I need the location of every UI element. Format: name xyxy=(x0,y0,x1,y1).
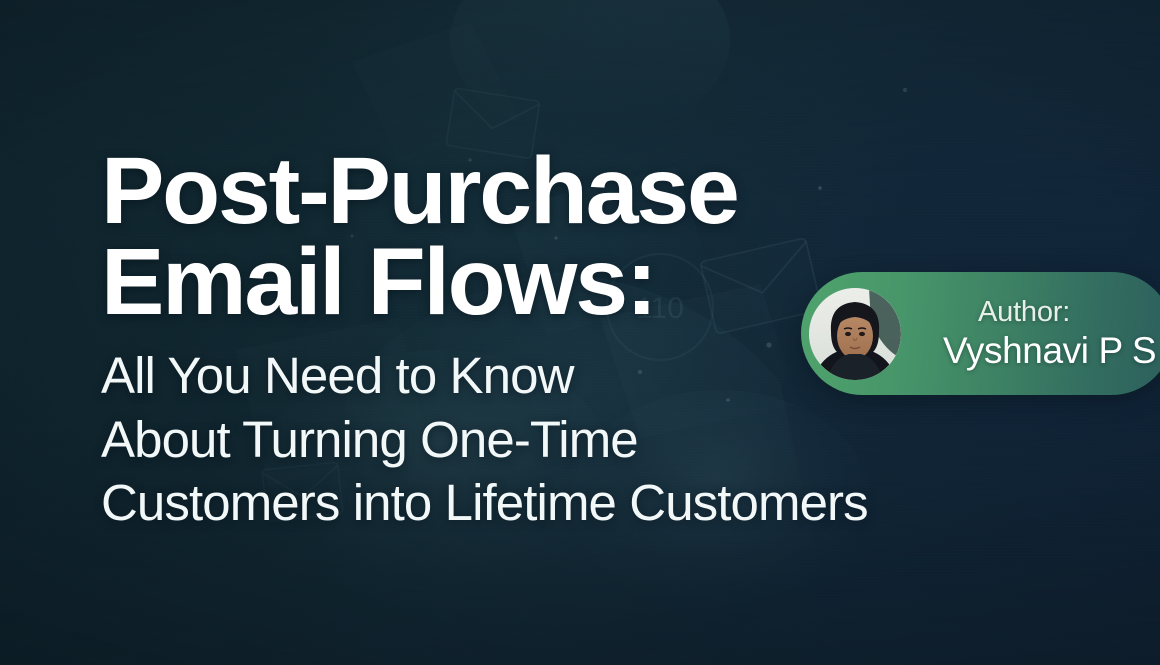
blog-title-banner: 110 xyxy=(0,0,1160,665)
subhead-line-2: About Turning One-Time xyxy=(101,408,981,471)
author-name: Vyshnavi P S xyxy=(943,331,1156,370)
subhead-line-3: Customers into Lifetime Customers xyxy=(101,471,981,534)
author-label: Author: xyxy=(943,297,1156,328)
avatar-portrait-icon xyxy=(809,288,901,380)
headline-line-1: Post-Purchase xyxy=(101,146,981,237)
avatar xyxy=(809,288,901,380)
author-text-group: Author: Vyshnavi P S xyxy=(943,297,1156,371)
author-badge: Author: Vyshnavi P S xyxy=(801,272,1160,395)
